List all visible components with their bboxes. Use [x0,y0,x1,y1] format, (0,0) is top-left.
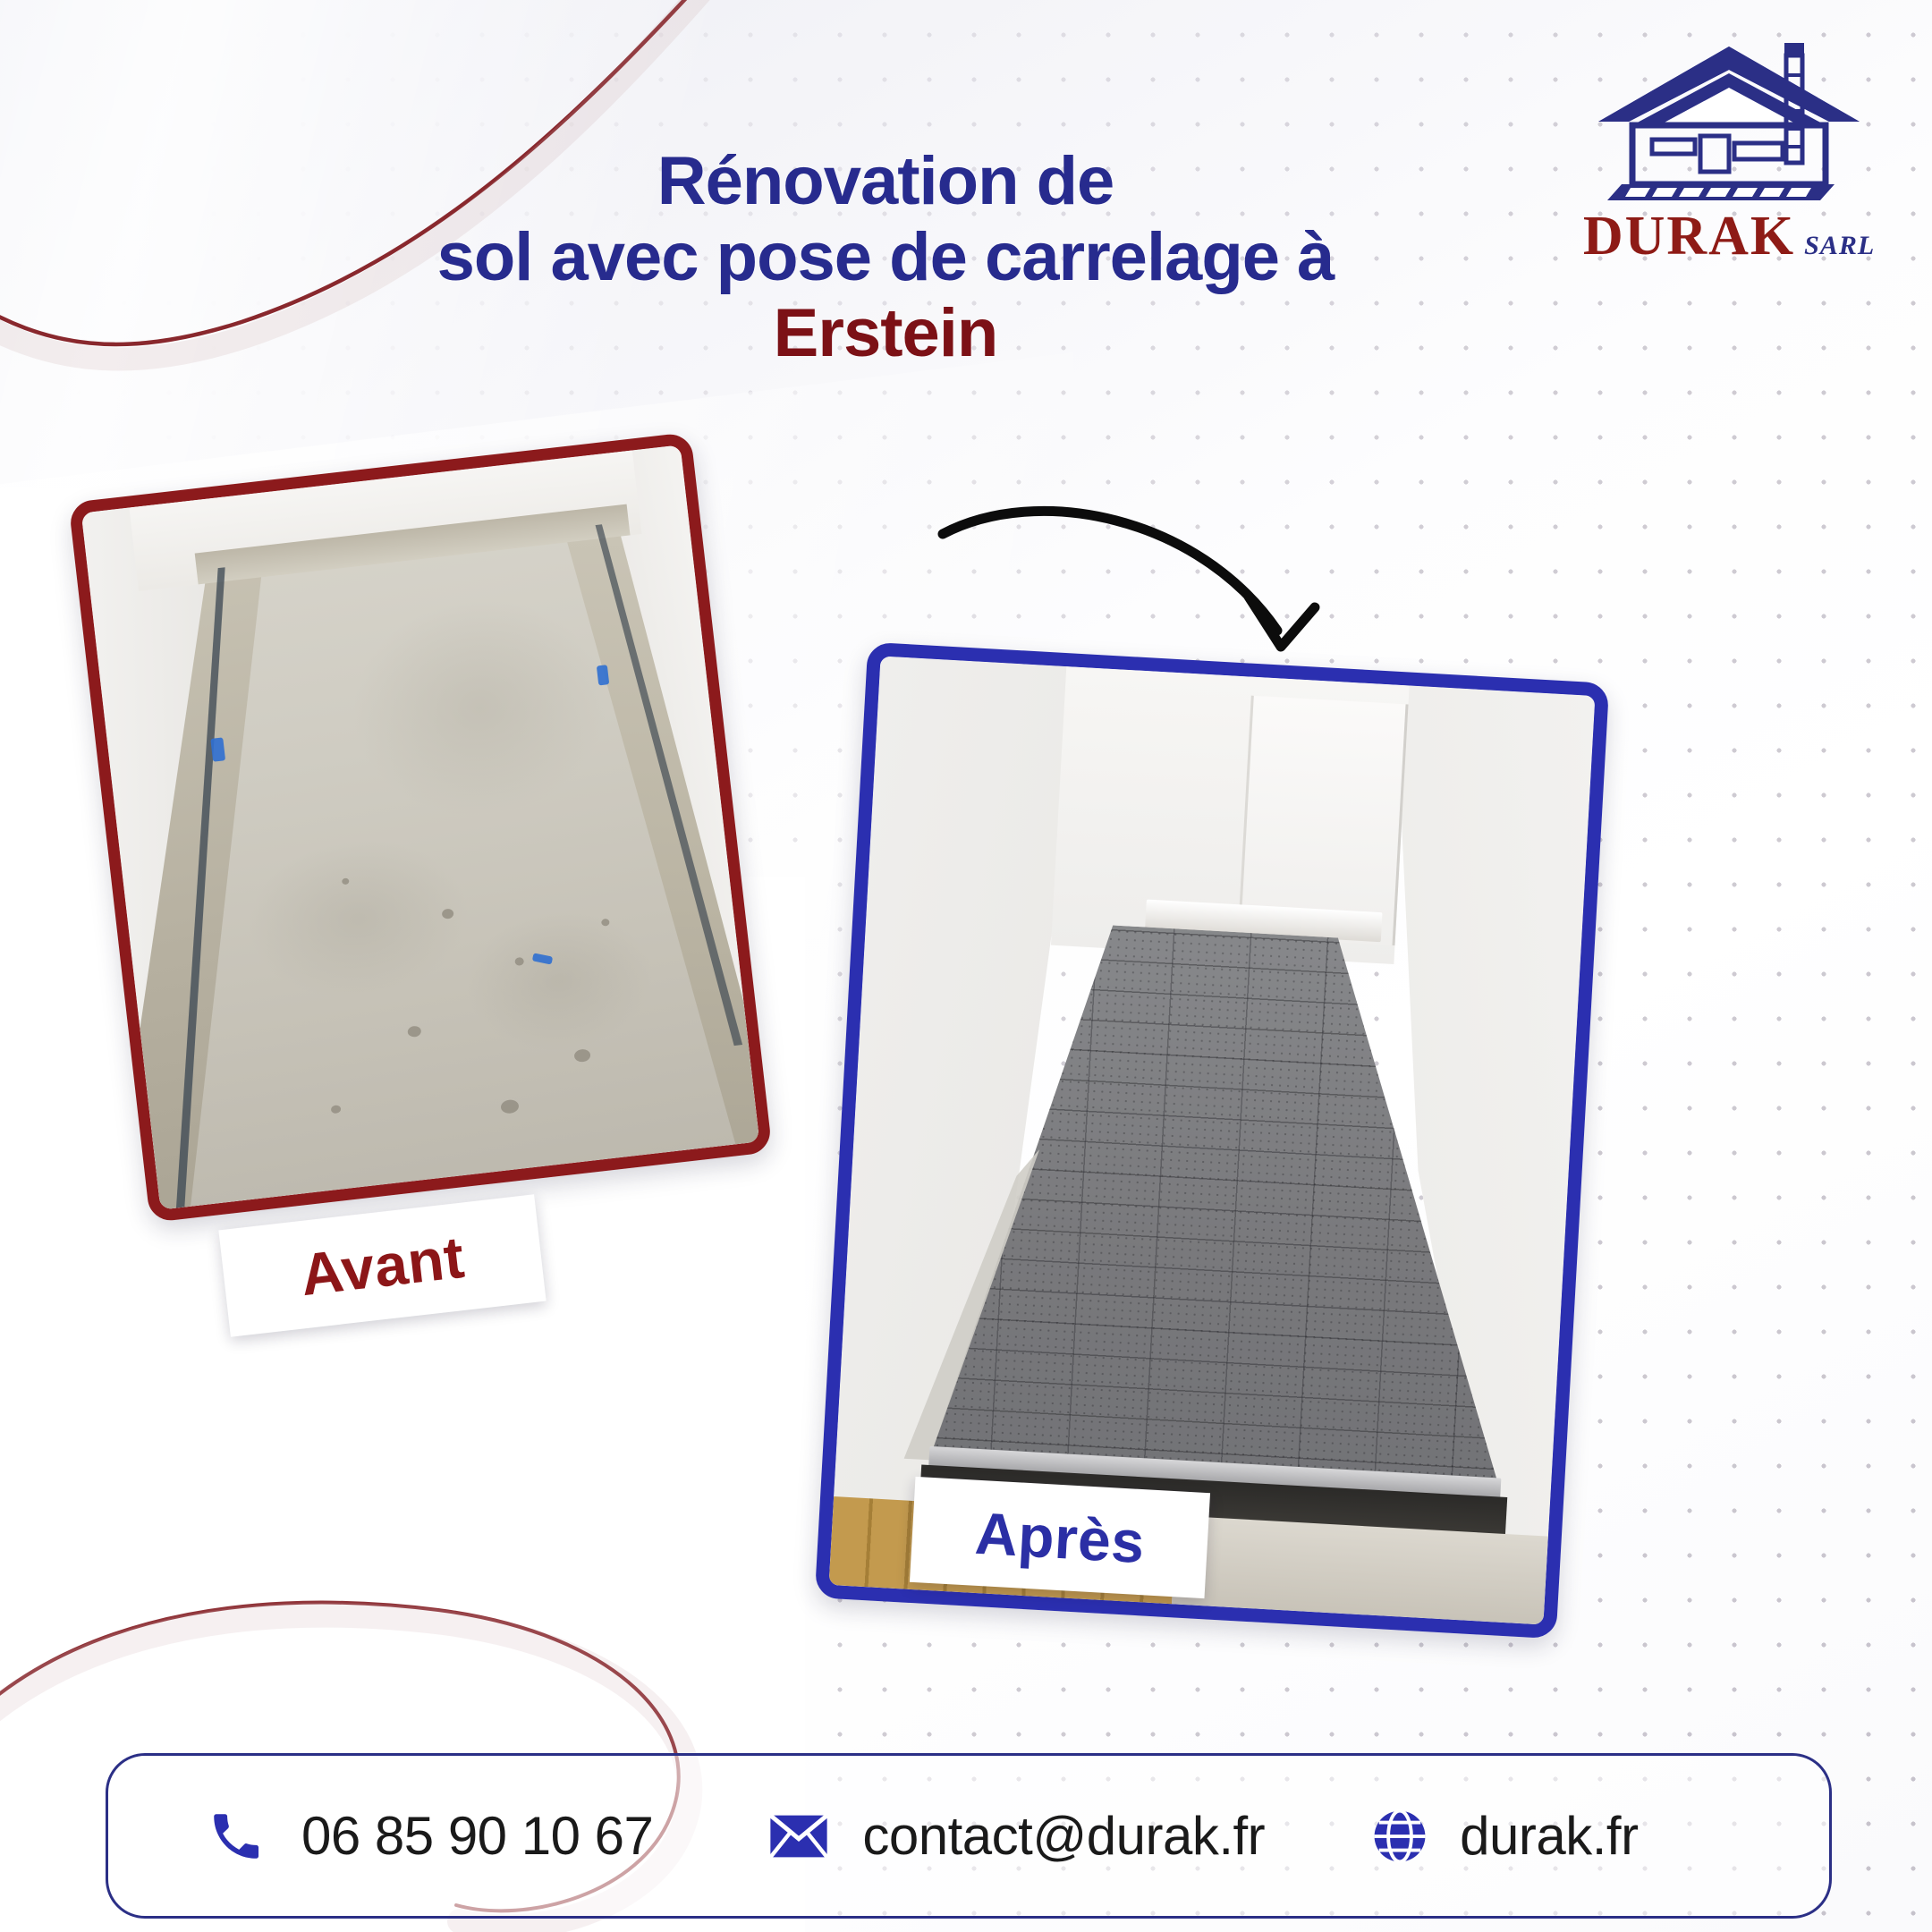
website-url: durak.fr [1460,1805,1638,1867]
house-roof-icon [1595,36,1863,201]
title-line-2: sol avec pose de carrelage à [295,219,1476,295]
title-line-1: Rénovation de [295,143,1476,219]
logo-wordmark: DURAK SARL [1583,205,1875,268]
after-label-text: Après [973,1499,1147,1576]
logo-suffix: SARL [1804,231,1875,261]
before-label-text: Avant [297,1223,468,1309]
logo-name: DURAK [1583,205,1795,268]
contact-bar: 06 85 90 10 67 contact@durak.fr [106,1753,1832,1919]
phone-icon [207,1807,266,1866]
envelope-icon [769,1813,828,1860]
contact-phone[interactable]: 06 85 90 10 67 [207,1756,653,1916]
before-photo [81,445,759,1209]
curved-arrow-icon [930,496,1395,729]
email-address: contact@durak.fr [862,1805,1265,1867]
globe-icon [1372,1809,1428,1864]
before-photo-card [68,432,772,1223]
title-line-3-city: Erstein [295,295,1476,371]
page-title: Rénovation de sol avec pose de carrelage… [295,143,1476,371]
phone-number: 06 85 90 10 67 [301,1805,653,1867]
contact-website[interactable]: durak.fr [1372,1756,1638,1916]
after-label: Après [910,1477,1210,1598]
contact-email[interactable]: contact@durak.fr [769,1756,1265,1916]
company-logo: DURAK SARL [1581,36,1877,295]
